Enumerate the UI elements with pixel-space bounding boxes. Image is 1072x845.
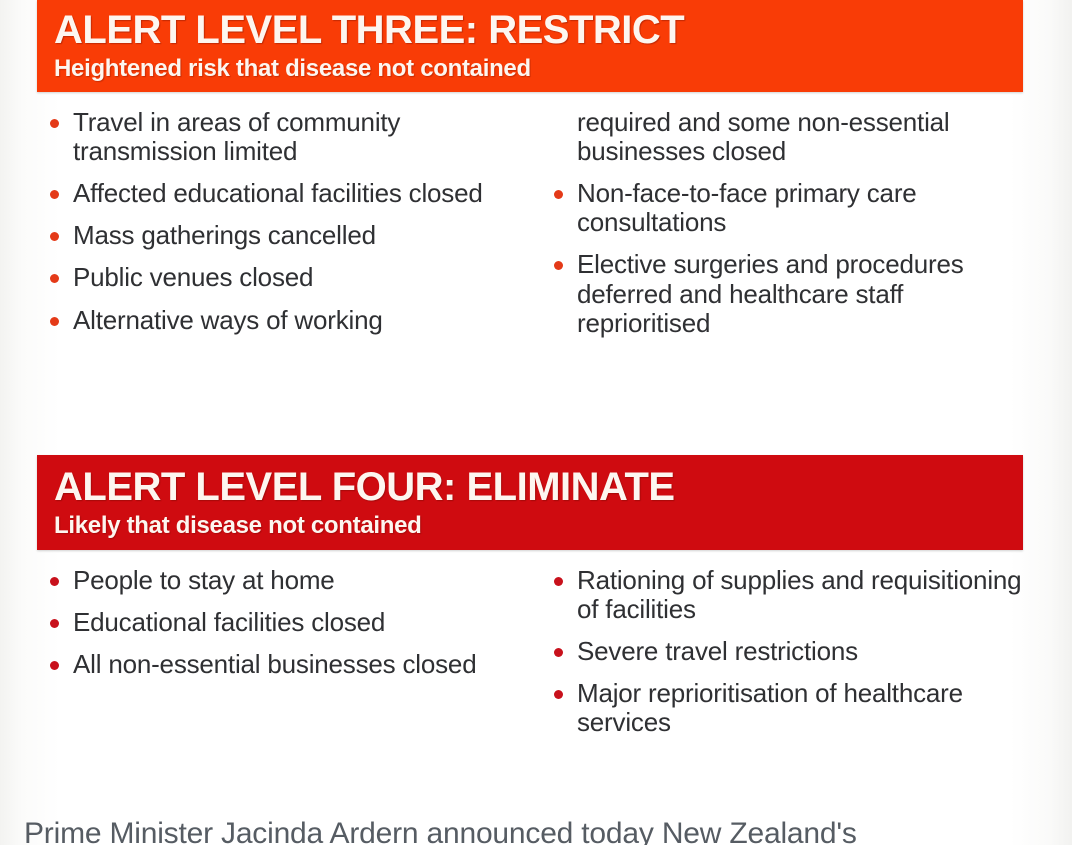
alert-level-three-subtitle: Heightened risk that disease not contain… [54,56,1023,81]
list-item: Alternative ways of working [43,306,537,335]
bullet-dot-icon [50,232,59,241]
alert-level-three-right-column: required and some non-essential business… [537,108,1023,351]
bullet-list: Rationing of supplies and requisitioning… [547,566,1023,738]
list-item: Travel in areas of community transmissio… [43,108,537,166]
list-item-label: All non-essential businesses closed [73,650,537,679]
bullet-dot-icon [554,261,563,270]
alert-level-four-right-column: Rationing of supplies and requisitioning… [537,566,1023,751]
page-background: ALERT LEVEL THREE: RESTRICT Heightened r… [0,0,1072,845]
alert-levels-infographic: ALERT LEVEL THREE: RESTRICT Heightened r… [0,0,1072,845]
bullet-dot-icon [50,190,59,199]
alert-level-four-subtitle: Likely that disease not contained [54,513,1023,538]
bullet-list: People to stay at home Educational facil… [43,566,537,679]
list-item-label: Affected educational facilities closed [73,179,537,208]
bullet-dot-icon [50,619,59,628]
alert-level-four-content: People to stay at home Educational facil… [37,550,1023,751]
alert-level-three-title: ALERT LEVEL THREE: RESTRICT [54,10,1023,50]
bullet-list: required and some non-essential business… [547,108,1023,338]
list-item-label: Elective surgeries and procedures deferr… [577,250,1023,337]
list-item: Elective surgeries and procedures deferr… [547,250,1023,337]
list-item-label: Non-face-to-face primary care consultati… [577,179,1023,237]
list-item-label: Mass gatherings cancelled [73,221,537,250]
list-item-label: Alternative ways of working [73,306,537,335]
list-item-continuation: required and some non-essential business… [547,108,1023,166]
list-item: Affected educational facilities closed [43,179,537,208]
list-item: Severe travel restrictions [547,637,1023,666]
list-item-label: required and some non-essential business… [577,108,1023,166]
alert-level-three-left-column: Travel in areas of community transmissio… [37,108,537,351]
bullet-dot-icon [554,690,563,699]
bullet-dot-icon [50,274,59,283]
alert-level-three-block: ALERT LEVEL THREE: RESTRICT Heightened r… [37,0,1023,351]
alert-level-four-banner: ALERT LEVEL FOUR: ELIMINATE Likely that … [37,455,1023,550]
alert-level-four-block: ALERT LEVEL FOUR: ELIMINATE Likely that … [37,455,1023,751]
bullet-dot-icon [554,190,563,199]
list-item: Educational facilities closed [43,608,537,637]
bullet-list: Travel in areas of community transmissio… [43,108,537,335]
bullet-dot-icon [554,648,563,657]
list-item: Public venues closed [43,263,537,292]
list-item-label: Travel in areas of community transmissio… [73,108,537,166]
list-item-label: Educational facilities closed [73,608,537,637]
list-item: Mass gatherings cancelled [43,221,537,250]
list-item-label: Major reprioritisation of healthcare ser… [577,679,1023,737]
alert-level-four-left-column: People to stay at home Educational facil… [37,566,537,751]
list-item: Non-face-to-face primary care consultati… [547,179,1023,237]
list-item: Major reprioritisation of healthcare ser… [547,679,1023,737]
list-item-label: Severe travel restrictions [577,637,1023,666]
bullet-dot-icon [50,317,59,326]
bullet-dot-icon [554,577,563,586]
bullet-dot-icon [50,119,59,128]
bullet-dot-icon [50,577,59,586]
list-item: All non-essential businesses closed [43,650,537,679]
bullet-dot-icon [50,661,59,670]
list-item: Rationing of supplies and requisitioning… [547,566,1023,624]
list-item: People to stay at home [43,566,537,595]
alert-level-four-title: ALERT LEVEL FOUR: ELIMINATE [54,467,1023,507]
list-item-label: Rationing of supplies and requisitioning… [577,566,1023,624]
alert-level-three-content: Travel in areas of community transmissio… [37,92,1023,351]
list-item-label: People to stay at home [73,566,537,595]
article-caption-text: Prime Minister Jacinda Ardern announced … [24,815,1044,845]
alert-level-three-banner: ALERT LEVEL THREE: RESTRICT Heightened r… [37,0,1023,92]
list-item-label: Public venues closed [73,263,537,292]
